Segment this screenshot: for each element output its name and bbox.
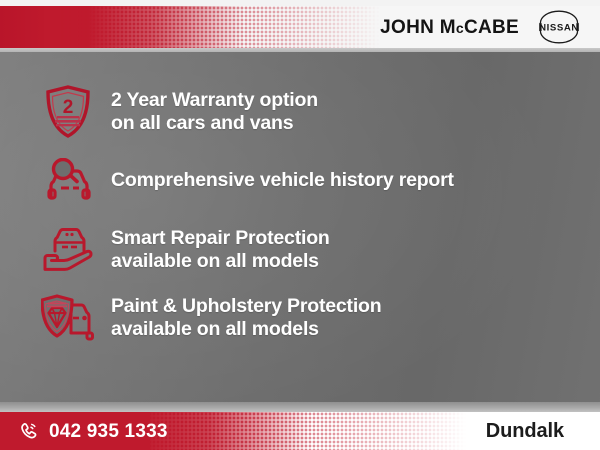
hand-holding-car-icon bbox=[40, 222, 96, 278]
feature-line-2: on all cars and vans bbox=[111, 112, 318, 135]
dealer-logo[interactable]: JOHN McCABE NISSAN bbox=[380, 6, 590, 48]
svg-text:2: 2 bbox=[63, 97, 74, 118]
nissan-logo-icon: NISSAN bbox=[528, 9, 590, 45]
feature-item: Comprehensive vehicle history report bbox=[40, 152, 580, 208]
shield-2-year-warranty-icon: 2 bbox=[40, 84, 96, 140]
svg-text:NISSAN: NISSAN bbox=[539, 23, 579, 34]
phone-icon bbox=[19, 421, 40, 442]
feature-list: 2 2 Year Warranty option on all cars and… bbox=[40, 84, 580, 352]
feature-line-2: available on all models bbox=[111, 250, 330, 273]
footer-divider bbox=[0, 402, 600, 412]
dealer-name-part1: JOHN M bbox=[380, 17, 456, 38]
dealer-name-superscript: c bbox=[456, 20, 464, 36]
footer-halftone-dots bbox=[140, 412, 470, 450]
footer-bar: 042 935 1333 Dundalk bbox=[0, 412, 600, 450]
feature-text: 2 Year Warranty option on all cars and v… bbox=[96, 89, 318, 135]
feature-item: Smart Repair Protection available on all… bbox=[40, 222, 580, 278]
feature-line-1: Paint & Upholstery Protection bbox=[111, 295, 382, 317]
location-label: Dundalk bbox=[486, 412, 564, 450]
feature-text: Comprehensive vehicle history report bbox=[96, 169, 454, 192]
feature-item: 2 2 Year Warranty option on all cars and… bbox=[40, 84, 580, 140]
feature-line-1: Comprehensive vehicle history report bbox=[111, 169, 454, 191]
phone-number: 042 935 1333 bbox=[49, 422, 168, 441]
header-bar: JOHN McCABE NISSAN bbox=[0, 6, 600, 48]
phone-contact[interactable]: 042 935 1333 bbox=[19, 412, 168, 450]
feature-item: Paint & Upholstery Protection available … bbox=[40, 290, 580, 346]
feature-text: Smart Repair Protection available on all… bbox=[96, 227, 330, 273]
feature-line-1: 2 Year Warranty option bbox=[111, 89, 318, 111]
header-halftone-dots bbox=[44, 6, 384, 48]
feature-line-1: Smart Repair Protection bbox=[111, 227, 330, 249]
header-divider bbox=[0, 48, 600, 52]
promo-banner: JOHN McCABE NISSAN 2 bbox=[0, 0, 600, 450]
magnifier-car-history-icon bbox=[40, 152, 96, 208]
feature-line-2: available on all models bbox=[111, 318, 382, 341]
feature-text: Paint & Upholstery Protection available … bbox=[96, 295, 382, 341]
dealer-name: JOHN McCABE bbox=[380, 18, 519, 37]
shield-diamond-car-icon bbox=[40, 290, 96, 346]
dealer-name-part2: CABE bbox=[464, 17, 519, 38]
location-text: Dundalk bbox=[486, 420, 564, 443]
